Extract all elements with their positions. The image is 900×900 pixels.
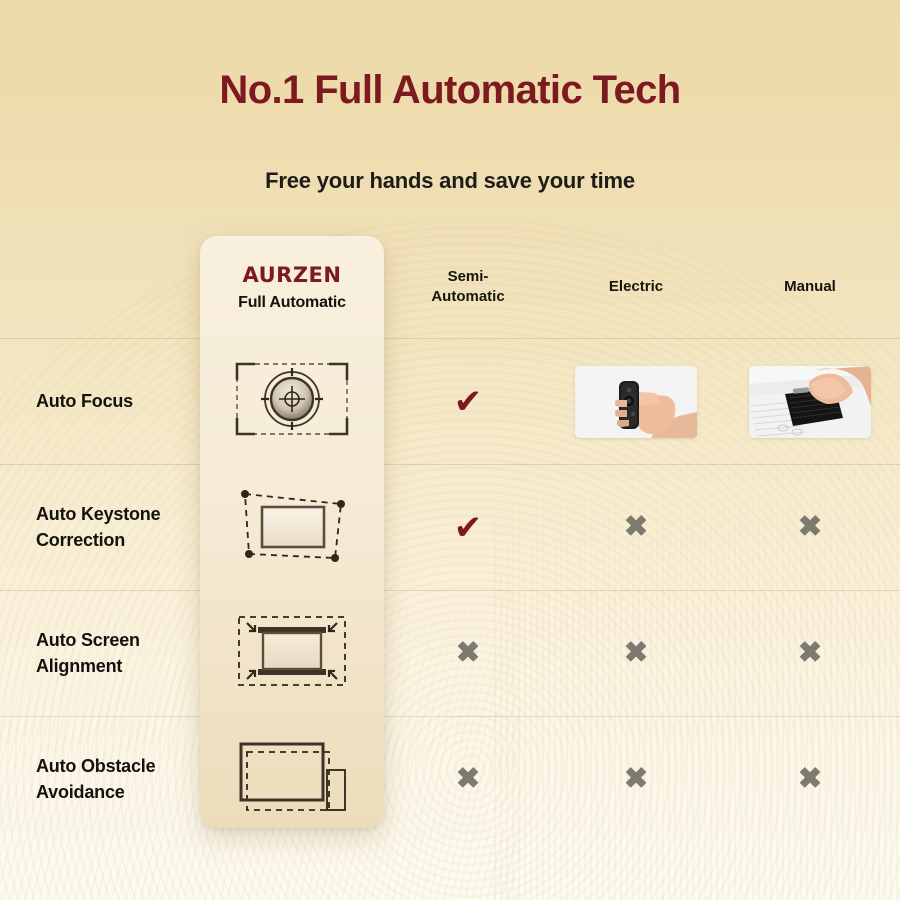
- cell-electric-auto-obstacle-avoidance: ✖: [552, 765, 720, 794]
- cell-electric-auto-focus: [552, 366, 720, 438]
- table-row: Auto Keystone Correction: [0, 464, 900, 590]
- row-label-auto-obstacle-avoidance: Auto Obstacle Avoidance: [0, 754, 200, 805]
- cell-manual-auto-obstacle-avoidance: ✖: [720, 765, 900, 794]
- header-cell-electric: Electric: [552, 277, 720, 297]
- auto-obstacle-avoidance-icon: [231, 736, 353, 823]
- table-row: Auto Focus: [0, 338, 900, 464]
- row-label-auto-screen-alignment: Auto Screen Alignment: [0, 628, 200, 679]
- row-label-auto-keystone-correction: Auto Keystone Correction: [0, 502, 200, 553]
- cell-semi-auto-keystone: ✔: [384, 511, 552, 545]
- row-label-line1: Auto Keystone: [36, 502, 200, 528]
- header-cell-semi-automatic: Semi- Automatic: [384, 267, 552, 308]
- cell-electric-auto-screen-alignment: ✖: [552, 639, 720, 668]
- row-label-line2: Correction: [36, 528, 200, 554]
- cross-icon: ✖: [798, 513, 822, 542]
- page-subtitle: Free your hands and save your time: [0, 168, 900, 194]
- check-icon: ✔: [454, 511, 483, 545]
- header-cell-aurzen: AURZEN Full Automatic: [200, 263, 384, 312]
- semi-label-line1: Semi-: [431, 267, 504, 287]
- table-row: Auto Screen Alignment: [0, 590, 900, 716]
- cell-manual-auto-screen-alignment: ✖: [720, 639, 900, 668]
- cross-icon: ✖: [624, 513, 648, 542]
- cell-manual-auto-focus: [720, 366, 900, 438]
- row-label-line2: Alignment: [36, 654, 200, 680]
- cell-semi-auto-obstacle-avoidance: ✖: [384, 765, 552, 794]
- cross-icon: ✖: [624, 765, 648, 794]
- cross-icon: ✖: [798, 639, 822, 668]
- electric-label: Electric: [609, 277, 663, 297]
- page-title: No.1 Full Automatic Tech: [0, 68, 900, 113]
- cell-semi-auto-screen-alignment: ✖: [384, 639, 552, 668]
- feature-comparison-table: AURZEN Full Automatic Semi- Automatic El…: [0, 236, 900, 842]
- cell-semi-auto-focus: ✔: [384, 385, 552, 419]
- cell-aurzen-auto-keystone: [200, 482, 384, 573]
- table-header-row: AURZEN Full Automatic Semi- Automatic El…: [0, 236, 900, 338]
- cross-icon: ✖: [798, 765, 822, 794]
- auto-focus-icon: [233, 360, 351, 443]
- header-cell-manual: Manual: [720, 277, 900, 297]
- cross-icon: ✖: [624, 639, 648, 668]
- semi-label-line2: Automatic: [431, 287, 504, 307]
- cell-aurzen-auto-focus: [200, 360, 384, 443]
- row-label-auto-focus: Auto Focus: [0, 389, 200, 415]
- cross-icon: ✖: [456, 639, 480, 668]
- aurzen-column-label: Full Automatic: [238, 294, 346, 312]
- check-icon: ✔: [454, 385, 483, 419]
- auto-keystone-icon: [231, 482, 353, 573]
- hand-holding-remote-photo: [575, 366, 697, 438]
- cell-electric-auto-keystone: ✖: [552, 513, 720, 542]
- manual-label: Manual: [784, 277, 836, 297]
- cell-aurzen-auto-obstacle-avoidance: [200, 736, 384, 823]
- aurzen-logo: AURZEN: [238, 263, 346, 287]
- cell-aurzen-auto-screen-alignment: [200, 609, 384, 698]
- row-label-line1: Auto Screen: [36, 628, 200, 654]
- promo-comparison-page: No.1 Full Automatic Tech Free your hands…: [0, 0, 900, 900]
- table-row: Auto Obstacle Avoidance ✖: [0, 716, 900, 842]
- row-label-line1: Auto Obstacle: [36, 754, 200, 780]
- cross-icon: ✖: [456, 765, 480, 794]
- row-label-line2: Avoidance: [36, 780, 200, 806]
- auto-screen-alignment-icon: [231, 609, 353, 698]
- cell-manual-auto-keystone: ✖: [720, 513, 900, 542]
- row-label-line1: Auto Focus: [36, 389, 200, 415]
- hand-on-focus-dial-photo: [749, 366, 871, 438]
